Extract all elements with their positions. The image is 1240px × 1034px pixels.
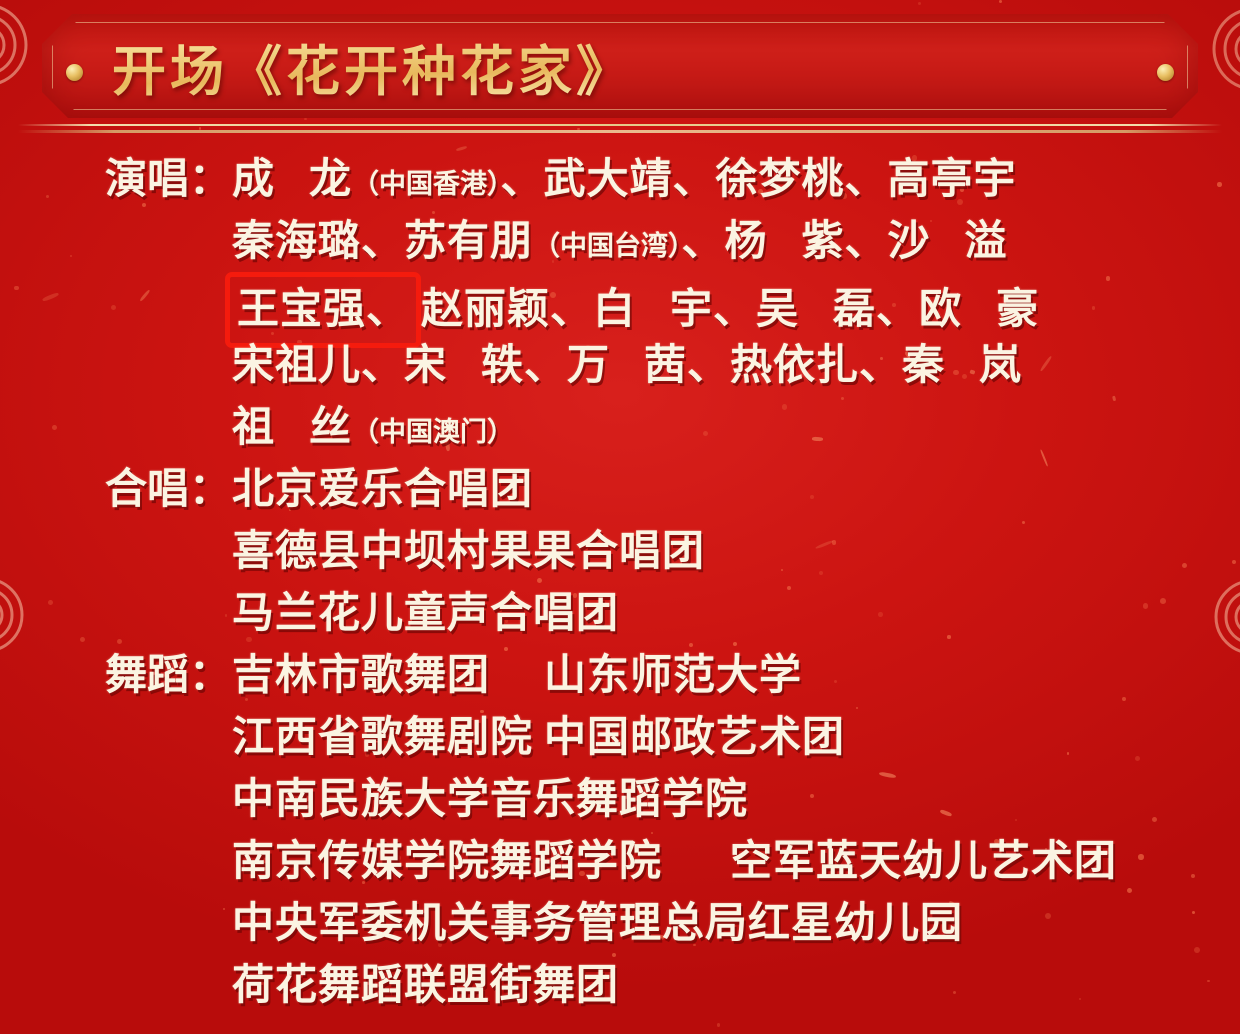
credit-name-text: 岚: [979, 341, 1022, 388]
banner-rail-upper: [18, 124, 1222, 126]
credit-name-text: 喜德县中坝村果果合唱团: [232, 527, 705, 574]
credit-names: 中南民族大学音乐舞蹈学院: [232, 768, 1240, 830]
credit-name-text: 、武大靖、徐梦桃、高亭宇: [501, 155, 1017, 202]
program-credits-screen: 开场《花开种花家》 演唱：成龙（中国香港）、武大靖、徐梦桃、高亭宇 秦海璐、苏有…: [0, 0, 1240, 1034]
credit-name-text: 成: [232, 155, 275, 202]
credit-name-text: 豪: [996, 285, 1039, 332]
credit-name-text: 、杨: [682, 217, 768, 264]
credit-label-spacer: [0, 954, 232, 1016]
credit-name-text: 荷花舞蹈联盟街舞团: [232, 961, 619, 1008]
credit-name-text: 宋祖儿、宋: [232, 341, 447, 388]
credit-row: 喜德县中坝村果果合唱团: [0, 520, 1240, 582]
credit-names: 宋祖儿、宋轶、万茜、热依扎、秦岚: [232, 334, 1240, 396]
credit-names: 中央军委机关事务管理总局红星幼儿园: [232, 892, 1240, 954]
banner-rail-lower: [18, 130, 1222, 133]
gold-rivet-icon-left: [66, 64, 83, 81]
credit-row: 演唱：成龙（中国香港）、武大靖、徐梦桃、高亭宇: [0, 148, 1240, 210]
region-annotation: （中国澳门）: [352, 417, 514, 447]
credit-row: 宋祖儿、宋轶、万茜、热依扎、秦岚: [0, 334, 1240, 396]
credit-name-text: 磊、欧: [833, 285, 962, 332]
page-title: 开场《花开种花家》: [112, 14, 634, 118]
credit-name-text: 龙: [309, 155, 352, 202]
credit-name-text: 赵丽颖、白: [421, 285, 636, 332]
credit-names: 成龙（中国香港）、武大靖、徐梦桃、高亭宇: [232, 148, 1240, 215]
credit-label-spacer: [0, 272, 232, 334]
credit-name-text: 北京爱乐合唱团: [232, 465, 533, 512]
credit-name-text: 丝: [309, 403, 352, 450]
credit-names: 江西省歌舞剧院中国邮政艺术团: [232, 706, 1240, 768]
credit-name-text: 轶、万: [481, 341, 610, 388]
credit-row: 秦海璐、苏有朋（中国台湾）、杨紫、沙溢: [0, 210, 1240, 272]
credit-role-label: 合唱：: [0, 458, 232, 520]
credit-names: 南京传媒学院舞蹈学院空军蓝天幼儿艺术团: [232, 830, 1240, 892]
credit-name-text: 南京传媒学院舞蹈学院: [232, 837, 662, 884]
credit-label-spacer: [0, 334, 232, 396]
credit-names: 北京爱乐合唱团: [232, 458, 1240, 520]
credit-name-text: 溢: [965, 217, 1008, 264]
credit-names: 吉林市歌舞团山东师范大学: [232, 644, 1240, 706]
gold-rivet-icon-right: [1157, 64, 1174, 81]
credit-label-spacer: [0, 396, 232, 458]
credit-names: 荷花舞蹈联盟街舞团: [232, 954, 1240, 1016]
credit-label-spacer: [0, 830, 232, 892]
credit-label-spacer: [0, 582, 232, 644]
credit-label-spacer: [0, 210, 232, 272]
credit-role-label: 演唱：: [0, 148, 232, 210]
credit-row: 中央军委机关事务管理总局红星幼儿园: [0, 892, 1240, 954]
credit-name-text: 山东师范大学: [544, 651, 802, 698]
credit-row: 荷花舞蹈联盟街舞团: [0, 954, 1240, 1016]
credit-row: 马兰花儿童声合唱团: [0, 582, 1240, 644]
credit-name-text: 秦海璐、苏有朋: [232, 217, 533, 264]
credit-names: 祖丝（中国澳门）: [232, 396, 1240, 463]
credit-row: 祖丝（中国澳门）: [0, 396, 1240, 458]
credit-row: 王宝强、赵丽颖、白宇、吴磊、欧豪: [0, 272, 1240, 334]
region-annotation: （中国台湾）: [533, 231, 682, 261]
credit-row: 江西省歌舞剧院中国邮政艺术团: [0, 706, 1240, 768]
credit-name-text: 空军蓝天幼儿艺术团: [730, 837, 1117, 884]
credit-row: 舞蹈：吉林市歌舞团山东师范大学: [0, 644, 1240, 706]
program-title-banner: 开场《花开种花家》: [42, 14, 1198, 118]
confetti-dot: [717, 1023, 721, 1027]
confetti-dot: [918, 2, 921, 5]
credit-name-text: 茜、热依扎、秦: [644, 341, 945, 388]
credit-name-text: 宇、吴: [670, 285, 799, 332]
credit-name-text: 中南民族大学音乐舞蹈学院: [232, 775, 748, 822]
credit-name-text: 紫、沙: [802, 217, 931, 264]
credits-list: 演唱：成龙（中国香港）、武大靖、徐梦桃、高亭宇 秦海璐、苏有朋（中国台湾）、杨紫…: [0, 148, 1240, 1016]
credit-label-spacer: [0, 768, 232, 830]
credit-row: 中南民族大学音乐舞蹈学院: [0, 768, 1240, 830]
credit-names: 喜德县中坝村果果合唱团: [232, 520, 1240, 582]
region-annotation: （中国香港）: [352, 169, 501, 199]
credit-role-label: 舞蹈：: [0, 644, 232, 706]
credit-name-text: 中国邮政艺术团: [544, 713, 845, 760]
confetti-dot: [999, 0, 1002, 3]
credit-row: 合唱：北京爱乐合唱团: [0, 458, 1240, 520]
credit-names: 马兰花儿童声合唱团: [232, 582, 1240, 644]
credit-name-text: 祖: [232, 403, 275, 450]
credit-row: 南京传媒学院舞蹈学院空军蓝天幼儿艺术团: [0, 830, 1240, 892]
credit-name-text: 中央军委机关事务管理总局红星幼儿园: [232, 899, 963, 946]
credit-label-spacer: [0, 520, 232, 582]
confetti-dot: [304, 118, 306, 120]
credit-name-text: 马兰花儿童声合唱团: [232, 589, 619, 636]
credit-names: 秦海璐、苏有朋（中国台湾）、杨紫、沙溢: [232, 210, 1240, 277]
credit-name-column: 江西省歌舞剧院: [232, 706, 544, 768]
credit-label-spacer: [0, 892, 232, 954]
credit-label-spacer: [0, 706, 232, 768]
credit-name-column: 吉林市歌舞团: [232, 644, 544, 706]
